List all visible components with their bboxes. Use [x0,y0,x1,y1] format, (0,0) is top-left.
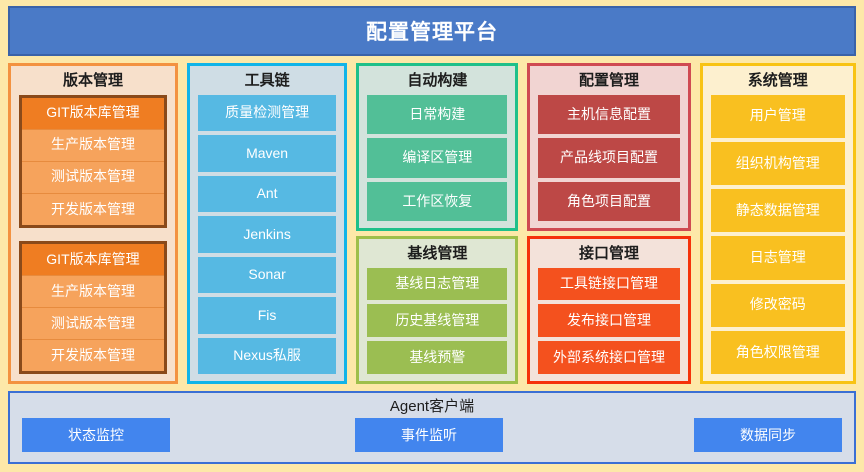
group-toolchain: 工具链 质量检测管理 Maven Ant Jenkins Sonar Fis N… [187,63,347,384]
item-dev-version-management-1[interactable]: 开发版本管理 [22,194,164,225]
item-maven[interactable]: Maven [198,135,336,172]
group-items-system-management: 用户管理 组织机构管理 静态数据管理 日志管理 修改密码 角色权限管理 [711,95,845,375]
item-nexus-private-server[interactable]: Nexus私服 [198,338,336,375]
item-daily-build[interactable]: 日常构建 [367,95,507,135]
event-listening-button[interactable]: 事件监听 [355,418,503,452]
item-test-version-management-2[interactable]: 测试版本管理 [22,308,164,340]
group-baseline-management: 基线管理 基线日志管理 历史基线管理 基线预警 [356,236,518,384]
group-items-auto-build: 日常构建 编译区管理 工作区恢复 [367,95,507,222]
item-product-line-project-config[interactable]: 产品线项目配置 [538,138,679,178]
column-config-and-interface: 配置管理 主机信息配置 产品线项目配置 角色项目配置 接口管理 工具链接口管理 … [527,63,690,384]
group-items-toolchain: 质量检测管理 Maven Ant Jenkins Sonar Fis Nexus… [198,95,336,375]
group-interface-management: 接口管理 工具链接口管理 发布接口管理 外部系统接口管理 [527,236,690,384]
group-title-baseline-management: 基线管理 [367,244,507,268]
group-items-config-management: 主机信息配置 产品线项目配置 角色项目配置 [538,95,679,222]
column-toolchain: 工具链 质量检测管理 Maven Ant Jenkins Sonar Fis N… [187,63,347,384]
item-baseline-alert[interactable]: 基线预警 [367,341,507,374]
group-items-baseline-management: 基线日志管理 历史基线管理 基线预警 [367,268,507,375]
item-role-permission-management[interactable]: 角色权限管理 [711,331,845,374]
item-release-interface-management[interactable]: 发布接口管理 [538,304,679,337]
page-title: 配置管理平台 [366,16,498,46]
item-log-management[interactable]: 日志管理 [711,236,845,279]
item-user-management[interactable]: 用户管理 [711,95,845,138]
group-title-config-management: 配置管理 [538,71,679,95]
configuration-management-platform-diagram: 配置管理平台 版本管理 GIT版本库管理 生产版本管理 测试版本管理 开发版本管… [0,0,864,472]
item-history-baseline-management[interactable]: 历史基线管理 [367,304,507,337]
column-build-and-baseline: 自动构建 日常构建 编译区管理 工作区恢复 基线管理 基线日志管理 历史基线管理… [356,63,518,384]
group-items-version-management: GIT版本库管理 生产版本管理 测试版本管理 开发版本管理 GIT版本库管理 生… [19,95,167,375]
agent-client-title: Agent客户端 [10,393,854,416]
item-workspace-recovery[interactable]: 工作区恢复 [367,182,507,222]
item-dev-version-management-2[interactable]: 开发版本管理 [22,340,164,371]
item-test-version-management-1[interactable]: 测试版本管理 [22,162,164,194]
group-auto-build: 自动构建 日常构建 编译区管理 工作区恢复 [356,63,518,231]
item-toolchain-interface-management[interactable]: 工具链接口管理 [538,268,679,301]
module-columns: 版本管理 GIT版本库管理 生产版本管理 测试版本管理 开发版本管理 GIT版本… [8,63,856,384]
group-version-management: 版本管理 GIT版本库管理 生产版本管理 测试版本管理 开发版本管理 GIT版本… [8,63,178,384]
group-system-management: 系统管理 用户管理 组织机构管理 静态数据管理 日志管理 修改密码 角色权限管理 [700,63,856,384]
item-git-repo-management-1[interactable]: GIT版本库管理 [22,98,164,130]
group-title-toolchain: 工具链 [198,71,336,95]
group-config-management: 配置管理 主机信息配置 产品线项目配置 角色项目配置 [527,63,690,231]
item-static-data-management[interactable]: 静态数据管理 [711,189,845,232]
group-items-interface-management: 工具链接口管理 发布接口管理 外部系统接口管理 [538,268,679,375]
page-title-banner: 配置管理平台 [8,6,856,56]
item-organization-management[interactable]: 组织机构管理 [711,142,845,185]
item-fis[interactable]: Fis [198,297,336,334]
item-role-project-config[interactable]: 角色项目配置 [538,182,679,222]
column-system-management: 系统管理 用户管理 组织机构管理 静态数据管理 日志管理 修改密码 角色权限管理 [700,63,856,384]
item-git-repo-management-2[interactable]: GIT版本库管理 [22,244,164,276]
column-version-management: 版本管理 GIT版本库管理 生产版本管理 测试版本管理 开发版本管理 GIT版本… [8,63,178,384]
item-external-system-interface-management[interactable]: 外部系统接口管理 [538,341,679,374]
group-title-interface-management: 接口管理 [538,244,679,268]
item-compile-area-management[interactable]: 编译区管理 [367,138,507,178]
agent-client-bar: Agent客户端 状态监控 事件监听 数据同步 [8,391,856,464]
status-monitoring-button[interactable]: 状态监控 [22,418,170,452]
group-title-auto-build: 自动构建 [367,71,507,95]
item-jenkins[interactable]: Jenkins [198,216,336,253]
group-title-version-management: 版本管理 [19,71,167,95]
agent-client-buttons: 状态监控 事件监听 数据同步 [10,416,854,463]
item-baseline-log-management[interactable]: 基线日志管理 [367,268,507,301]
version-repo-group-1: GIT版本库管理 生产版本管理 测试版本管理 开发版本管理 [19,95,167,228]
item-ant[interactable]: Ant [198,176,336,213]
group-title-system-management: 系统管理 [711,71,845,95]
item-host-info-config[interactable]: 主机信息配置 [538,95,679,135]
item-change-password[interactable]: 修改密码 [711,284,845,327]
item-sonar[interactable]: Sonar [198,257,336,294]
version-repo-group-2: GIT版本库管理 生产版本管理 测试版本管理 开发版本管理 [19,241,167,374]
item-production-version-management-1[interactable]: 生产版本管理 [22,130,164,162]
data-sync-button[interactable]: 数据同步 [694,418,842,452]
item-production-version-management-2[interactable]: 生产版本管理 [22,276,164,308]
item-quality-inspection-management[interactable]: 质量检测管理 [198,95,336,132]
